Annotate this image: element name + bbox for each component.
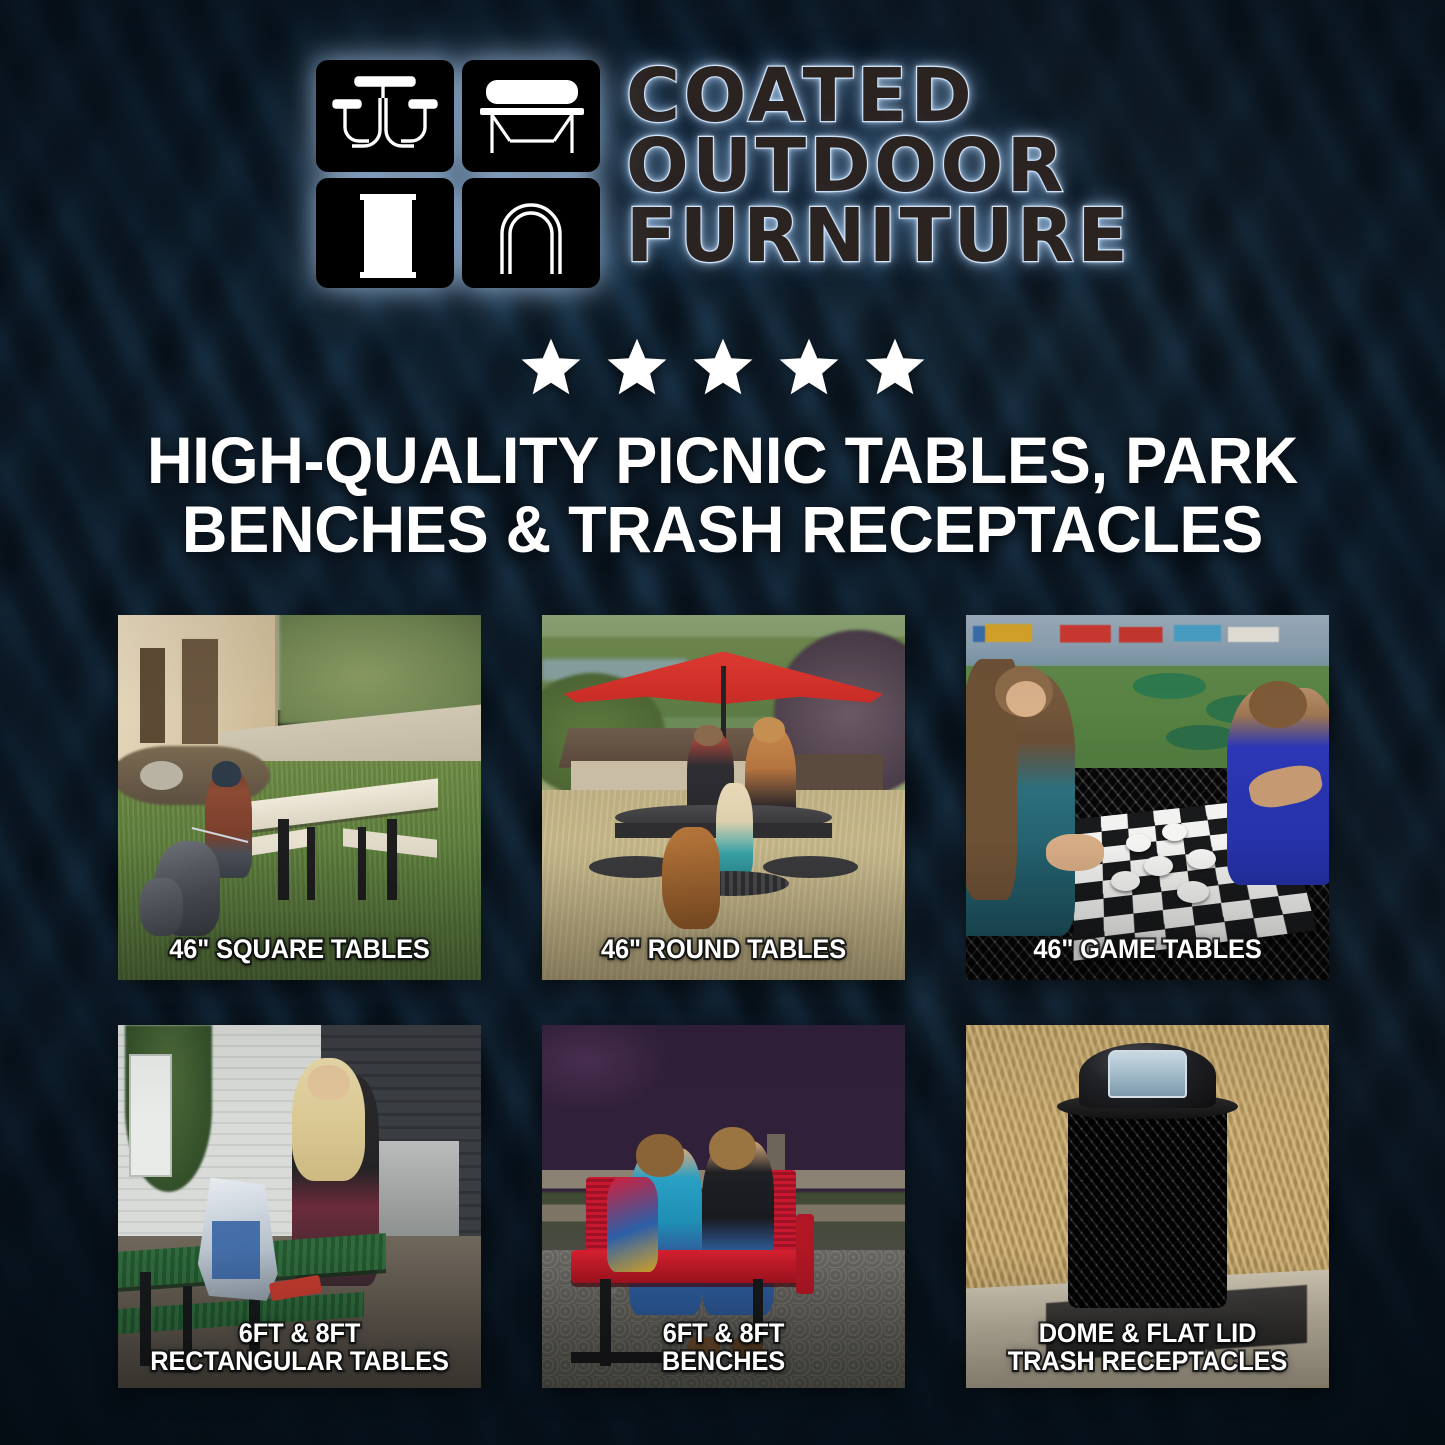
product-grid: 46" SQUARE TABLES bbox=[118, 615, 1328, 1388]
brand-name-line-2: OUTDOOR bbox=[626, 132, 1131, 200]
product-card-benches[interactable]: 6FT & 8FT BENCHES bbox=[542, 1025, 905, 1388]
star-icon bbox=[519, 336, 583, 398]
product-photo-round-tables bbox=[542, 615, 905, 980]
star-icon bbox=[777, 336, 841, 398]
product-card-rectangular-tables[interactable]: 6FT & 8FT RECTANGULAR TABLES bbox=[118, 1025, 481, 1388]
caption-line-1: 46" ROUND TABLES bbox=[559, 935, 889, 964]
brand-logo: COATED OUTDOOR FURNITURE bbox=[0, 58, 1445, 290]
caption-line-1: 46" GAME TABLES bbox=[983, 935, 1313, 964]
headline-line-2: BENCHES & TRASH RECEPTACLES bbox=[90, 495, 1355, 564]
product-caption: 6FT & 8FT BENCHES bbox=[559, 1319, 889, 1376]
brand-name-line-1: COATED bbox=[626, 62, 1131, 130]
star-icon bbox=[605, 336, 669, 398]
product-photo-game-tables bbox=[966, 615, 1329, 980]
brand-wordmark: COATED OUTDOOR FURNITURE bbox=[626, 58, 1131, 270]
four-product-grid-icon bbox=[314, 58, 602, 290]
headline-line-1: HIGH-QUALITY PICNIC TABLES, PARK bbox=[90, 426, 1355, 495]
caption-line-2: RECTANGULAR TABLES bbox=[135, 1347, 465, 1376]
product-photo-square-tables bbox=[118, 615, 481, 980]
brand-name-line-3: FURNITURE bbox=[626, 202, 1131, 270]
product-card-game-tables[interactable]: 46" GAME TABLES bbox=[966, 615, 1329, 980]
caption-line-1: 6FT & 8FT bbox=[135, 1319, 465, 1348]
caption-line-2: TRASH RECEPTACLES bbox=[983, 1347, 1313, 1376]
trash-receptacle-icon bbox=[360, 194, 416, 278]
product-card-square-tables[interactable]: 46" SQUARE TABLES bbox=[118, 615, 481, 980]
product-card-round-tables[interactable]: 46" ROUND TABLES bbox=[542, 615, 905, 980]
caption-line-2: BENCHES bbox=[559, 1347, 889, 1376]
star-icon bbox=[691, 336, 755, 398]
caption-line-1: 6FT & 8FT bbox=[559, 1319, 889, 1348]
product-caption: 46" ROUND TABLES bbox=[559, 935, 889, 964]
page-headline: HIGH-QUALITY PICNIC TABLES, PARK BENCHES… bbox=[90, 426, 1355, 563]
caption-line-1: DOME & FLAT LID bbox=[983, 1319, 1313, 1348]
product-caption: 46" GAME TABLES bbox=[983, 935, 1313, 964]
product-caption: DOME & FLAT LID TRASH RECEPTACLES bbox=[983, 1319, 1313, 1376]
product-caption: 46" SQUARE TABLES bbox=[135, 935, 465, 964]
product-caption: 6FT & 8FT RECTANGULAR TABLES bbox=[135, 1319, 465, 1376]
product-card-trash-receptacles[interactable]: DOME & FLAT LID TRASH RECEPTACLES bbox=[966, 1025, 1329, 1388]
five-star-rating bbox=[0, 336, 1445, 398]
star-icon bbox=[863, 336, 927, 398]
caption-line-1: 46" SQUARE TABLES bbox=[135, 935, 465, 964]
